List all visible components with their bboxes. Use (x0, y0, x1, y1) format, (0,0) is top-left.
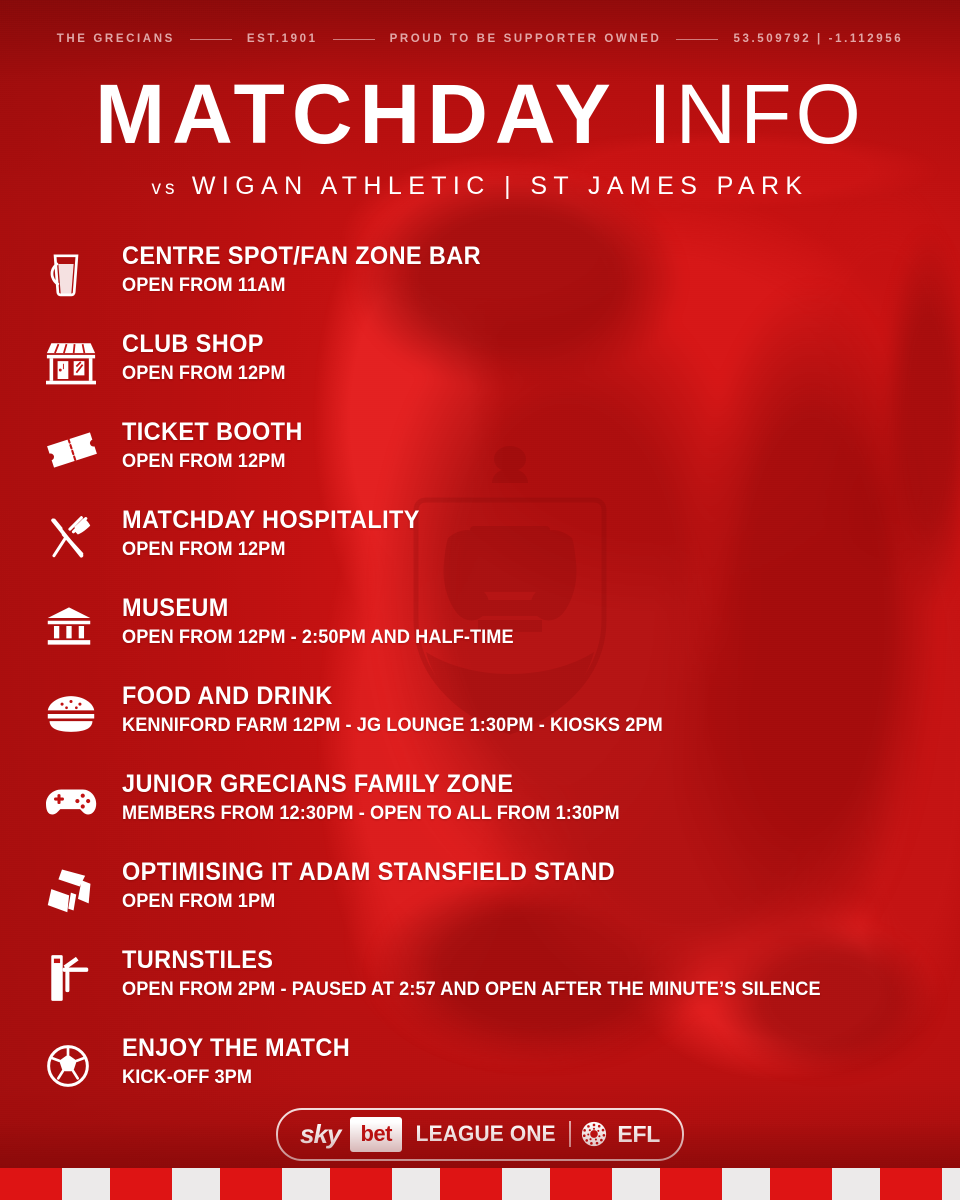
pint-glass-icon (46, 242, 122, 304)
list-item-texts: MATCHDAY HOSPITALITY OPEN FROM 12PM (122, 506, 439, 561)
page-title-matchday: MATCHDAY (95, 67, 618, 161)
list-item-texts: FOOD AND DRINK KENNIFORD FARM 12PM - JG … (122, 682, 704, 737)
list-item: OPTIMISING IT ADAM STANSFIELD STAND OPEN… (46, 858, 930, 946)
list-item-title: FOOD AND DRINK (122, 683, 669, 710)
turnstile-icon (46, 946, 122, 1008)
list-item-subtitle: OPEN FROM 11AM (122, 273, 477, 297)
toprail-established: EST.1901 (245, 33, 320, 45)
list-item: CLUB SHOP OPEN FROM 12PM (46, 330, 930, 418)
list-item: CENTRE SPOT/FAN ZONE BAR OPEN FROM 11AM (46, 242, 930, 330)
toprail-divider-1 (190, 39, 232, 40)
list-item-subtitle: OPEN FROM 12PM (122, 537, 417, 561)
list-item-title: TURNSTILES (122, 947, 828, 974)
toprail-coordinates: 53.509792 | -1.112956 (731, 33, 905, 45)
list-item-subtitle: OPEN FROM 12PM - 2:50PM AND HALF-TIME (122, 625, 514, 649)
page-title: MATCHDAY INFO (0, 72, 960, 156)
list-item-title: CENTRE SPOT/FAN ZONE BAR (122, 243, 481, 270)
list-item-title: OPTIMISING IT ADAM STANSFIELD STAND (122, 859, 615, 886)
ticket-icon (46, 418, 122, 480)
toprail-supporter-owned: PROUD TO BE SUPPORTER OWNED (388, 33, 664, 45)
list-item-subtitle: OPEN FROM 12PM (122, 361, 286, 385)
football-icon (46, 1034, 122, 1096)
list-item-texts: TURNSTILES OPEN FROM 2PM - PAUSED AT 2:5… (122, 946, 873, 1001)
burger-icon (46, 682, 122, 744)
stadium-stand-icon (46, 858, 122, 920)
subtitle-fixture: WIGAN ATHLETIC | ST JAMES PARK (192, 172, 809, 200)
museum-building-icon (46, 594, 122, 656)
matchday-info-poster: THE GRECIANS EST.1901 PROUD TO BE SUPPOR… (0, 0, 960, 1200)
list-item-subtitle: OPEN FROM 12PM (122, 449, 301, 473)
list-item-subtitle: OPEN FROM 2PM - PAUSED AT 2:57 AND OPEN … (122, 977, 821, 1001)
list-item: FOOD AND DRINK KENNIFORD FARM 12PM - JG … (46, 682, 930, 770)
list-item-subtitle: KICK-OFF 3PM (122, 1065, 348, 1089)
list-item-texts: CENTRE SPOT/FAN ZONE BAR OPEN FROM 11AM (122, 242, 504, 297)
list-item-title: TICKET BOOTH (122, 419, 303, 446)
list-item-title: MUSEUM (122, 595, 518, 622)
list-item: TICKET BOOTH OPEN FROM 12PM (46, 418, 930, 506)
list-item-texts: ENJOY THE MATCH KICK-OFF 3PM (122, 1034, 365, 1089)
bottom-stripe (0, 1168, 960, 1200)
page-title-info: INFO (648, 67, 865, 161)
list-item: MUSEUM OPEN FROM 12PM - 2:50PM AND HALF-… (46, 594, 930, 682)
matchday-info-list: CENTRE SPOT/FAN ZONE BAR OPEN FROM 11AM (46, 242, 930, 1122)
game-controller-icon (46, 770, 122, 832)
toprail-divider-2 (333, 39, 375, 40)
toprail-divider-3 (676, 39, 718, 40)
list-item-texts: MUSEUM OPEN FROM 12PM - 2:50PM AND HALF-… (122, 594, 543, 649)
top-rail: THE GRECIANS EST.1901 PROUD TO BE SUPPOR… (0, 33, 960, 45)
fork-knife-icon (46, 506, 122, 568)
list-item: MATCHDAY HOSPITALITY OPEN FROM 12PM (46, 506, 930, 594)
toprail-grecians: THE GRECIANS (55, 33, 177, 45)
storefront-icon (46, 330, 122, 392)
list-item-title: MATCHDAY HOSPITALITY (122, 507, 420, 534)
list-item: JUNIOR GRECIANS FAMILY ZONE MEMBERS FROM… (46, 770, 930, 858)
list-item-subtitle: OPEN FROM 1PM (122, 889, 610, 913)
list-item-texts: JUNIOR GRECIANS FAMILY ZONE MEMBERS FROM… (122, 770, 657, 825)
list-item-title: ENJOY THE MATCH (122, 1035, 350, 1062)
list-item-subtitle: KENNIFORD FARM 12PM - JG LOUNGE 1:30PM -… (122, 713, 663, 737)
list-item-title: CLUB SHOP (122, 331, 287, 358)
stripe-shadow (0, 1122, 960, 1168)
list-item-texts: TICKET BOOTH OPEN FROM 12PM (122, 418, 314, 473)
list-item-texts: OPTIMISING IT ADAM STANSFIELD STAND OPEN… (122, 858, 647, 913)
list-item-subtitle: MEMBERS FROM 12:30PM - OPEN TO ALL FROM … (122, 801, 620, 825)
subtitle-vs: vs (152, 178, 179, 199)
list-item-texts: CLUB SHOP OPEN FROM 12PM (122, 330, 298, 385)
list-item: TURNSTILES OPEN FROM 2PM - PAUSED AT 2:5… (46, 946, 930, 1034)
page-subtitle: vs WIGAN ATHLETIC | ST JAMES PARK (0, 172, 960, 201)
list-item-title: JUNIOR GRECIANS FAMILY ZONE (122, 771, 625, 798)
